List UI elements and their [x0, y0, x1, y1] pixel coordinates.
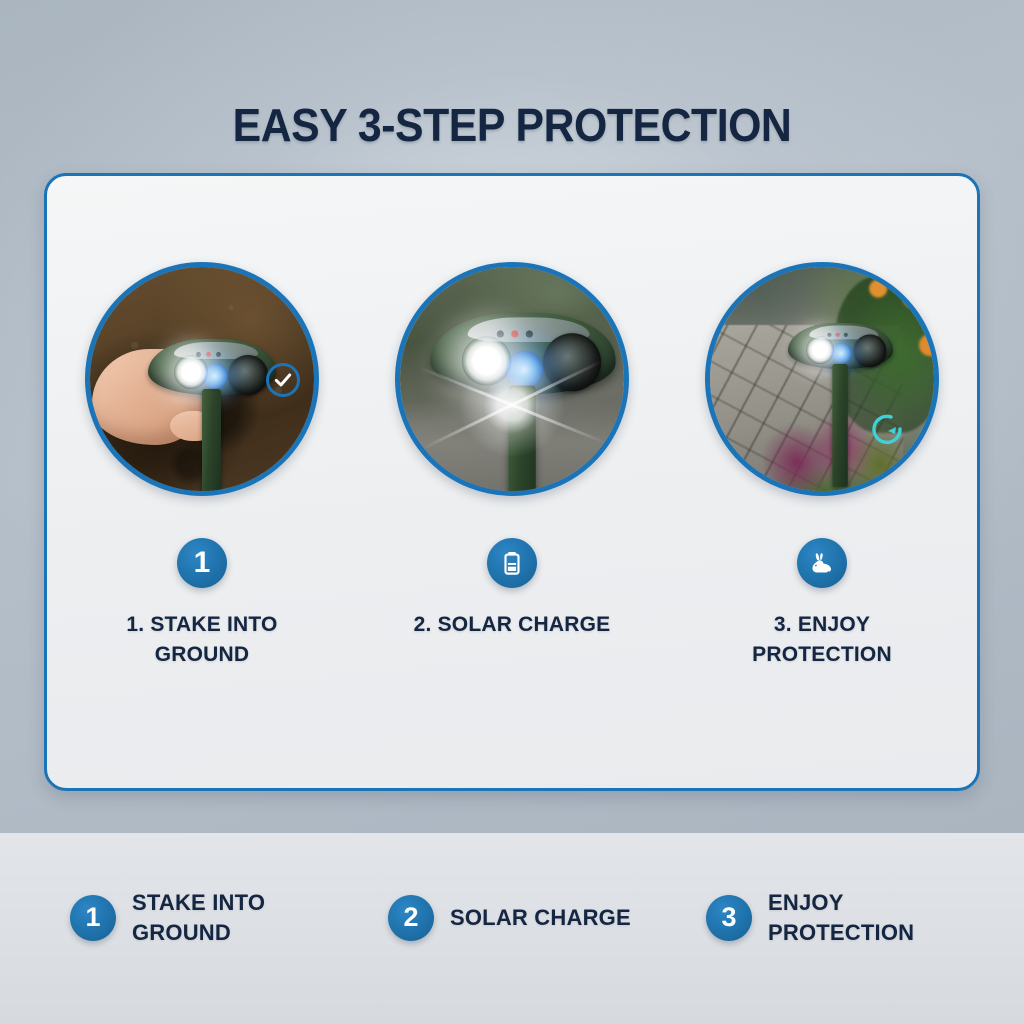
summary-badge-2: 2 [388, 895, 434, 941]
swirl-arrow-icon [866, 409, 910, 453]
photo-enjoy-protection [705, 262, 939, 496]
ground-stake [508, 386, 536, 497]
blue-lens-light [505, 351, 543, 389]
step-1[interactable]: 1 1. STAKE INTO GROUND [57, 262, 347, 671]
step-2-label: 2. SOLAR CHARGE [414, 610, 611, 640]
summary-label-1: STAKE INTO GROUND [132, 888, 318, 947]
summary-label-2: SOLAR CHARGE [450, 903, 631, 933]
step-1-label: 1. STAKE INTO GROUND [87, 610, 317, 671]
indicator-lights [827, 333, 848, 337]
speaker-horn [854, 334, 887, 367]
blue-lens-light [831, 343, 852, 364]
summary-item-2[interactable]: 2 SOLAR CHARGE [388, 888, 636, 947]
step-1-icon-circle: 1 [177, 538, 227, 588]
page-title: EASY 3-STEP PROTECTION [36, 98, 988, 152]
summary-badge-1: 1 [70, 895, 116, 941]
speaker-horn [228, 355, 268, 395]
check-icon [273, 370, 293, 390]
step-2[interactable]: 2. SOLAR CHARGE [367, 262, 657, 640]
step-3-label: 3. ENJOY PROTECTION [707, 610, 937, 671]
check-badge [266, 363, 300, 397]
speaker-horn [543, 333, 601, 391]
ground-stake [832, 364, 848, 487]
steps-row: 1 1. STAKE INTO GROUND [47, 262, 977, 671]
white-led-light [174, 355, 208, 389]
white-led-light [806, 336, 834, 364]
summary-row: 1 STAKE INTO GROUND 2 SOLAR CHARGE 3 ENJ… [0, 888, 1024, 947]
steps-card: 1 1. STAKE INTO GROUND [44, 173, 980, 791]
summary-item-1[interactable]: 1 STAKE INTO GROUND [70, 888, 318, 947]
summary-badge-3: 3 [706, 895, 752, 941]
ground-stake [202, 389, 221, 496]
indicator-lights [196, 352, 221, 357]
summary-label-3: ENJOY PROTECTION [768, 888, 954, 947]
photo-solar-charge [395, 262, 629, 496]
number-one-icon: 1 [194, 548, 211, 578]
white-led-light [462, 336, 511, 385]
summary-item-3[interactable]: 3 ENJOY PROTECTION [706, 888, 954, 947]
step-2-icon-circle [487, 538, 537, 588]
photo-stake-into-ground [85, 262, 319, 496]
step-3-icon-circle [797, 538, 847, 588]
step-3[interactable]: 3. ENJOY PROTECTION [677, 262, 967, 671]
rabbit-icon [809, 550, 836, 577]
indicator-lights [497, 330, 533, 337]
battery-icon [499, 550, 525, 576]
